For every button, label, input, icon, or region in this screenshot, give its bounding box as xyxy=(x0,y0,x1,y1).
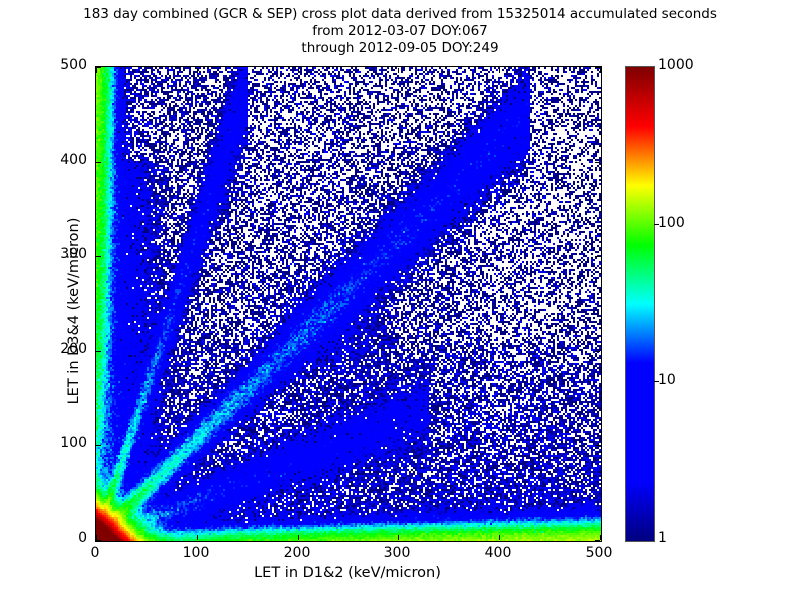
y-tick-right-0 xyxy=(595,540,600,541)
x-axis-label: LET in D1&2 (keV/micron) xyxy=(95,565,600,581)
colorbar-ticklabel-1000: 1000 xyxy=(658,57,694,73)
x-ticklabel-300: 300 xyxy=(367,545,427,561)
y-tick-200 xyxy=(96,351,101,352)
x-tick-400 xyxy=(499,535,500,540)
x-tick-top-500 xyxy=(600,68,601,73)
y-tick-right-400 xyxy=(595,162,600,163)
y-tick-0 xyxy=(96,540,101,541)
x-tick-top-300 xyxy=(398,68,399,73)
y-tick-500 xyxy=(96,67,101,68)
y-tick-100 xyxy=(96,445,101,446)
x-tick-top-200 xyxy=(298,68,299,73)
x-tick-100 xyxy=(197,535,198,540)
title-line-2: from 2012-03-07 DOY:067 xyxy=(0,23,800,40)
colorbar-gradient xyxy=(626,67,654,541)
colorbar xyxy=(625,66,655,542)
y-tick-400 xyxy=(96,162,101,163)
x-tick-300 xyxy=(398,535,399,540)
x-tick-top-100 xyxy=(197,68,198,73)
colorbar-ticklabel-100: 100 xyxy=(658,215,685,231)
x-tick-200 xyxy=(298,535,299,540)
y-ticklabel-500: 500 xyxy=(27,57,87,73)
x-tick-top-400 xyxy=(499,68,500,73)
y-axis-label: LET in D3&4 (keV/micron) xyxy=(66,74,82,548)
title-line-3: through 2012-09-05 DOY:249 xyxy=(0,40,800,57)
x-ticklabel-200: 200 xyxy=(267,545,327,561)
y-tick-right-100 xyxy=(595,445,600,446)
x-tick-top-0 xyxy=(96,68,97,73)
y-tick-right-500 xyxy=(595,67,600,68)
y-tick-300 xyxy=(96,256,101,257)
x-ticklabel-100: 100 xyxy=(166,545,226,561)
y-tick-right-200 xyxy=(595,351,600,352)
title-line-1: 183 day combined (GCR & SEP) cross plot … xyxy=(0,6,800,23)
x-tick-500 xyxy=(600,535,601,540)
x-ticklabel-500: 500 xyxy=(569,545,629,561)
colorbar-ticklabel-1: 1 xyxy=(658,530,667,546)
colorbar-ticklabel-10: 10 xyxy=(658,372,676,388)
histogram-2d-canvas xyxy=(96,67,601,541)
y-tick-right-300 xyxy=(595,256,600,257)
x-ticklabel-400: 400 xyxy=(468,545,528,561)
plot-title: 183 day combined (GCR & SEP) cross plot … xyxy=(0,6,800,57)
plot-axes-frame xyxy=(95,66,602,542)
figure-canvas: 183 day combined (GCR & SEP) cross plot … xyxy=(0,0,800,600)
